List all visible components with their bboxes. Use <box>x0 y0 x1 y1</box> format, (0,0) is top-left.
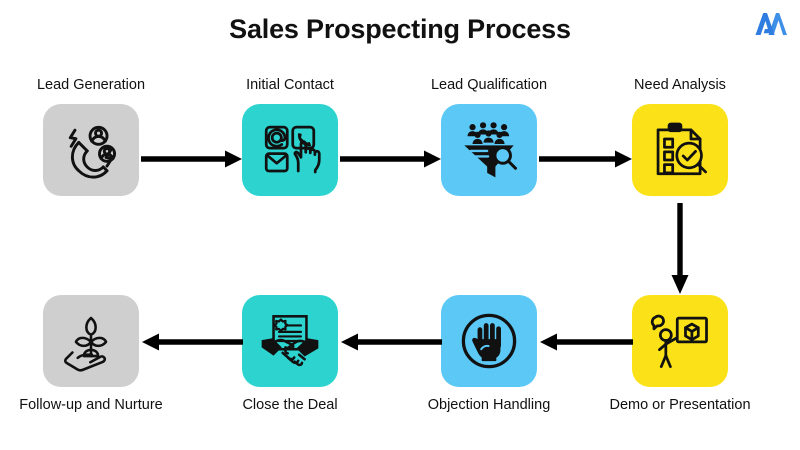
connector-arrow-left-1 <box>539 331 633 353</box>
people-funnel-magnifier-icon <box>457 118 521 182</box>
step-icon-box[interactable] <box>242 104 338 196</box>
step-demo-or-presentation[interactable]: Demo or Presentation <box>632 295 728 416</box>
diagram-canvas: Sales Prospecting Process Lead Generatio… <box>0 0 800 450</box>
connector-arrow-right-3 <box>539 148 633 170</box>
presenter-screen-cube-icon <box>648 309 712 373</box>
step-icon-box[interactable] <box>632 104 728 196</box>
page-title: Sales Prospecting Process <box>0 14 800 45</box>
step-icon-box[interactable] <box>43 104 139 196</box>
step-follow-up-and-nurture[interactable]: Follow-up and Nurture <box>43 295 139 416</box>
step-lead-generation[interactable]: Lead Generation <box>43 76 139 196</box>
step-lead-qualification[interactable]: Lead Qualification <box>441 76 537 196</box>
step-objection-handling[interactable]: Objection Handling <box>441 295 537 416</box>
connector-arrow-left-2 <box>340 331 442 353</box>
clipboard-checklist-magnifier-icon <box>648 118 712 182</box>
mountain-m-logo-icon <box>754 9 788 39</box>
step-label: Objection Handling <box>414 396 564 416</box>
connector-arrow-right-1 <box>141 148 243 170</box>
step-icon-box[interactable] <box>242 295 338 387</box>
step-close-the-deal[interactable]: Close the Deal <box>242 295 338 416</box>
connector-arrow-left-3 <box>141 331 243 353</box>
step-icon-box[interactable] <box>441 295 537 387</box>
step-label: Demo or Presentation <box>605 396 755 416</box>
connector-arrow-right-2 <box>340 148 442 170</box>
stop-hand-circle-icon <box>457 309 521 373</box>
step-label: Follow-up and Nurture <box>16 396 166 416</box>
step-initial-contact[interactable]: Initial Contact <box>242 76 338 196</box>
contact-methods-hand-icon <box>258 118 322 182</box>
step-label: Close the Deal <box>215 396 365 416</box>
step-need-analysis[interactable]: Need Analysis <box>632 76 728 196</box>
handshake-contract-icon <box>258 309 322 373</box>
connector-arrow-down <box>669 203 691 295</box>
step-label: Lead Generation <box>16 76 166 96</box>
step-label: Need Analysis <box>605 76 755 96</box>
step-icon-box[interactable] <box>43 295 139 387</box>
step-icon-box[interactable] <box>441 104 537 196</box>
step-icon-box[interactable] <box>632 295 728 387</box>
step-label: Lead Qualification <box>414 76 564 96</box>
magnet-attracting-people-icon <box>58 117 124 183</box>
step-label: Initial Contact <box>215 76 365 96</box>
hand-holding-plant-icon <box>60 310 122 372</box>
